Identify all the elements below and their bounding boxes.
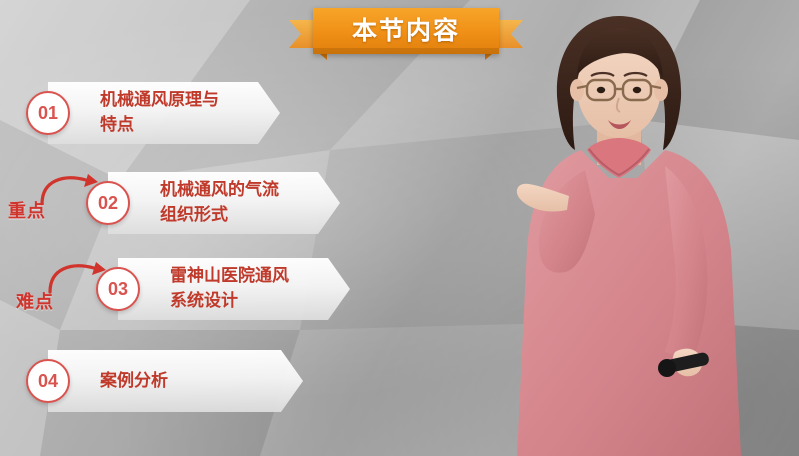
- item-label: 机械通风的气流 组织形式: [160, 172, 279, 234]
- difficult-point-arrow-icon: [44, 256, 114, 296]
- item-label: 机械通风原理与 特点: [100, 82, 219, 144]
- key-point-arrow-icon: [36, 168, 106, 208]
- presenter-video: [469, 0, 799, 456]
- item-chevron-shape: [48, 350, 303, 412]
- list-item[interactable]: 机械通风原理与 特点 01: [12, 82, 302, 144]
- lecture-slide: 本节内容 机械通风原理与 特点 01 机械通风的气流 组织形式 02 重点 雷神…: [0, 0, 799, 456]
- list-item[interactable]: 机械通风的气流 组织形式 02: [72, 172, 362, 234]
- item-number-badge: 04: [26, 359, 70, 403]
- list-item[interactable]: 案例分析 04: [12, 350, 302, 412]
- list-item[interactable]: 雷神山医院通风 系统设计 03: [82, 258, 372, 320]
- item-label: 案例分析: [100, 350, 168, 412]
- item-label: 雷神山医院通风 系统设计: [170, 258, 289, 320]
- item-number-badge: 01: [26, 91, 70, 135]
- difficult-point-tag: 难点: [16, 288, 54, 314]
- key-point-tag: 重点: [8, 197, 46, 223]
